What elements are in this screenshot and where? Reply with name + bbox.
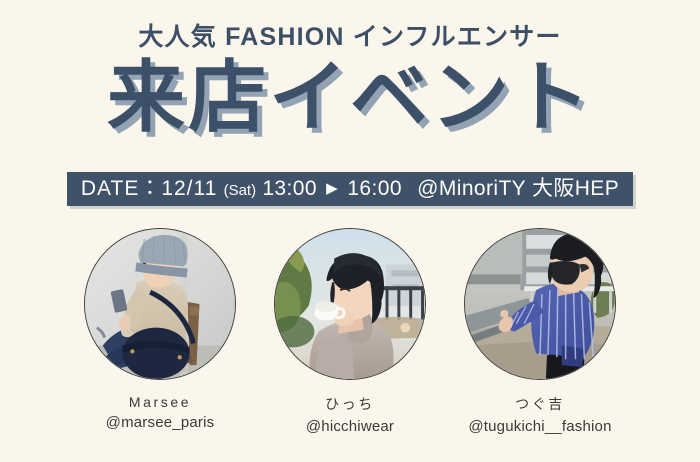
avatar <box>464 228 616 380</box>
influencer-card: ひっち @hicchiwear <box>274 228 426 435</box>
influencer-handle: @tugukichi__fashion <box>468 418 611 435</box>
banner-start-time: 13:00 <box>262 177 317 200</box>
influencer-list: Marsee @marsee_paris <box>0 228 700 435</box>
influencer-name: ひっち <box>325 394 375 414</box>
photo-person-with-beanie-and-bag-icon <box>85 229 235 379</box>
avatar <box>84 228 236 380</box>
avatar <box>274 228 426 380</box>
banner-venue: @MinoriTY 大阪HEP <box>417 177 619 200</box>
banner-weekday: (Sat) <box>224 182 257 199</box>
influencer-card: つぐ吉 @tugukichi__fashion <box>464 228 616 435</box>
photo-person-drinking-from-cup-icon <box>275 229 425 379</box>
photo-person-in-striped-shirt-at-railing-icon <box>465 229 615 379</box>
date-banner: DATE：12/11 (Sat) 13:00 ▶ 16:00 @MinoriTY… <box>67 172 633 206</box>
play-triangle-icon: ▶ <box>323 180 341 197</box>
event-poster: 大人気 FASHION インフルエンサー 来店イベント DATE：12/11 (… <box>0 0 700 462</box>
influencer-handle: @marsee_paris <box>106 414 215 431</box>
influencer-name: つぐ吉 <box>515 394 565 414</box>
influencer-card: Marsee @marsee_paris <box>84 228 236 435</box>
banner-date-label: DATE：12/11 <box>81 177 217 200</box>
influencer-handle: @hicchiwear <box>306 418 394 435</box>
banner-end-time: 16:00 <box>347 177 402 200</box>
poster-title: 来店イベント <box>0 58 700 136</box>
date-banner-row: DATE：12/11 (Sat) 13:00 ▶ 16:00 @MinoriTY… <box>0 172 700 206</box>
influencer-name: Marsee <box>129 394 191 410</box>
poster-subtitle: 大人気 FASHION インフルエンサー <box>0 17 700 53</box>
